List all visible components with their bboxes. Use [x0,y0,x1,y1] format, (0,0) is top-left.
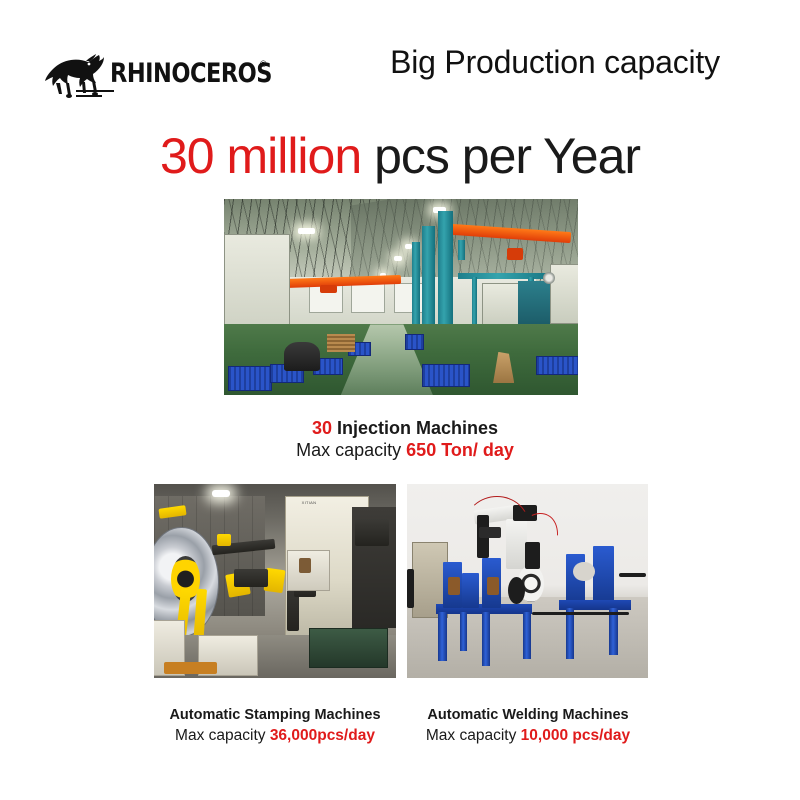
cabinet-side [407,569,414,608]
welding-caption-line1: Automatic Welding Machines [392,706,664,725]
injection-caption: 30 Injection Machines Max capacity 650 T… [205,417,605,462]
welding-fixture [593,546,615,604]
wooden-pallet [327,334,355,352]
rotary-chuck [573,562,595,581]
support-column [458,240,465,260]
headline-highlight: 30 million [160,128,361,184]
wall-fan-icon [543,272,555,284]
welding-table-leg [482,612,490,666]
injection-caption-line2: Max capacity 650 Ton/ day [205,439,605,462]
crane-hoist [507,248,523,260]
injection-machine [518,281,550,328]
workpiece [448,577,460,594]
welding-table-leg [523,612,531,659]
ceiling-lamp-icon [298,228,315,234]
welding-fixture [462,573,479,608]
stamping-caption-line2: Max capacity 36,000pcs/day [135,725,415,746]
injection-machine [482,283,519,328]
injection-capacity-label: Max capacity [296,440,406,460]
welding-caption-line2: Max capacity 10,000 pcs/day [392,725,664,746]
page-header: RHINOCEROS ® Big Production capacity [0,44,800,102]
blue-crate [422,364,470,388]
green-die-table [309,628,388,669]
blue-crate [405,334,425,350]
injection-machine-name: Injection Machines [332,418,498,438]
welding-table-leg [438,612,446,661]
logo-underline-1 [76,90,114,92]
welding-capacity-label: Max capacity [426,727,521,744]
injection-workshop-photo [224,199,578,395]
ceiling-lamp-icon [212,490,230,497]
registered-mark-icon: ® [260,59,267,69]
brand-logo[interactable]: RHINOCEROS ® [38,50,274,100]
ceiling-lamp-icon [405,244,412,249]
brand-wordmark: RHINOCEROS [110,57,272,88]
workpiece [487,577,499,594]
robot-display [479,527,501,539]
ceiling-lamp-icon [394,256,402,261]
welding-machine-photo [407,484,648,678]
welding-caption: Automatic Welding Machines Max capacity … [392,706,664,746]
stamping-caption: Automatic Stamping Machines Max capacity… [135,706,415,746]
headline: 30 million pcs per Year [0,126,800,186]
stamping-caption-line1: Automatic Stamping Machines [135,706,415,725]
logo-underline-2 [76,95,102,97]
press-brand-label: XITIAN [302,500,317,505]
injection-caption-line1: 30 Injection Machines [205,417,605,439]
cable-run [532,612,628,615]
welding-capacity-value: 10,000 pcs/day [521,727,630,744]
feeder-unit [234,569,268,586]
injection-machine [550,264,578,325]
welding-table-leg [460,612,467,651]
floor-marking [164,662,217,674]
conveyor-rail [619,573,646,577]
crane-hoist [320,285,338,293]
welding-table-leg [609,608,617,655]
spool-mount [525,542,539,569]
blue-crate [228,366,272,392]
factory-window [351,283,385,312]
stamping-machine-photo: XITIAN [154,484,396,678]
injection-machine-count: 30 [312,418,332,438]
press-window [299,558,311,574]
welding-table-leg [566,608,574,658]
headline-rest: pcs per Year [361,128,640,184]
press-control-panel [355,519,389,546]
page-title: Big Production capacity [330,44,780,81]
floor-equipment [284,342,319,371]
stamping-capacity-label: Max capacity [175,727,270,744]
yellow-guard [217,534,232,546]
injection-capacity-value: 650 Ton/ day [406,440,514,460]
stamping-capacity-value: 36,000pcs/day [270,727,375,744]
blue-crate [536,356,578,376]
